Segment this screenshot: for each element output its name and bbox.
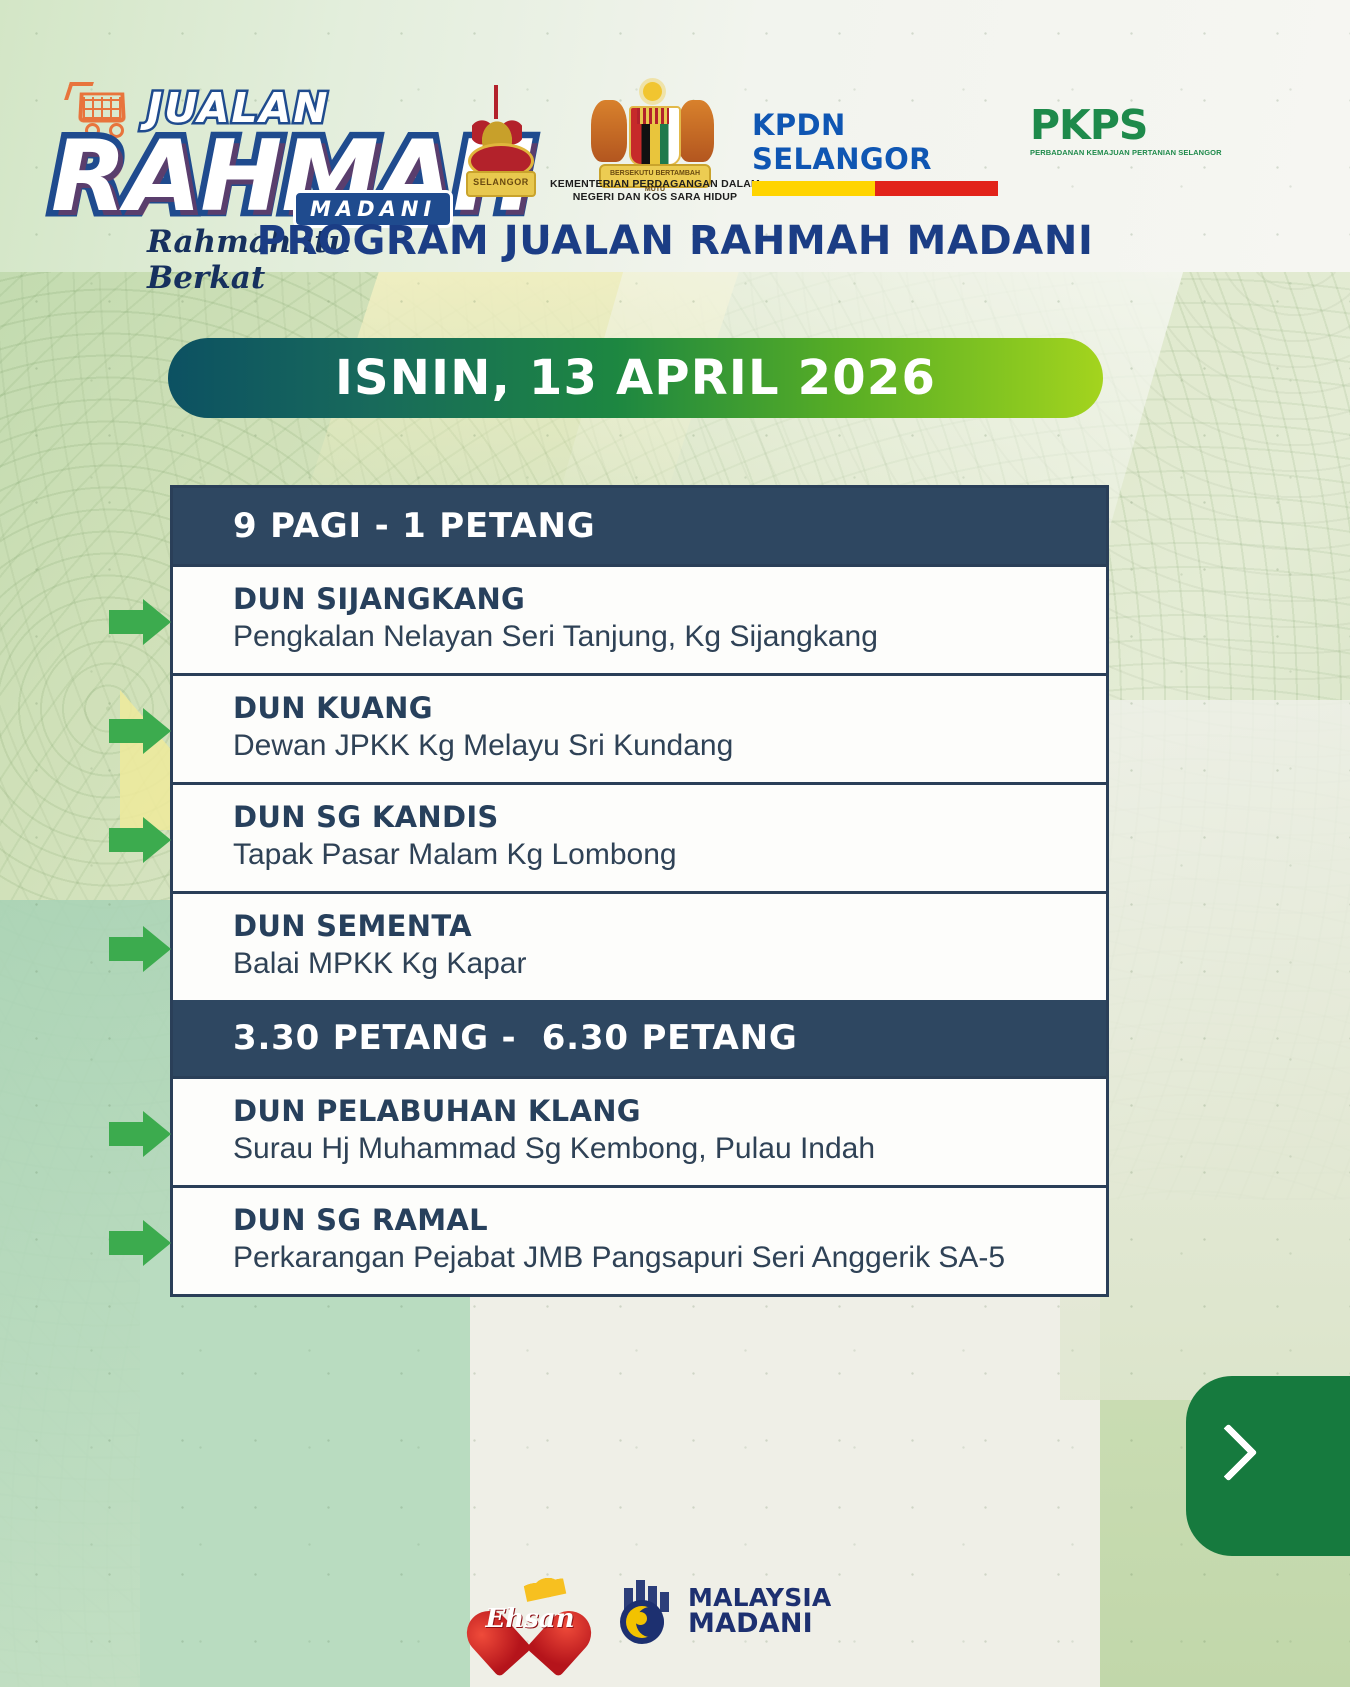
ministry-caption: KEMENTERIAN PERDAGANGAN DALAM NEGERI DAN… — [540, 178, 770, 204]
venue-name: Balai MPKK Kg Kapar — [233, 944, 1080, 984]
selangor-crest-icon: SELANGOR — [460, 85, 550, 205]
venue-name: Perkarangan Pejabat JMB Pangsapuri Seri … — [233, 1238, 1080, 1278]
dun-name: DUN SIJANGKANG — [233, 581, 1080, 617]
dun-name: DUN SG KANDIS — [233, 799, 1080, 835]
page-title: PROGRAM JUALAN RAHMAH MADANI — [0, 218, 1350, 264]
pkps-logo: PKPS PERBADANAN KEMAJUAN PERTANIAN SELAN… — [1030, 104, 1200, 157]
schedule-card: 9 PAGI - 1 PETANGDUN SIJANGKANGPengkalan… — [170, 485, 1109, 1297]
venue-name: Tapak Pasar Malam Kg Lombong — [233, 835, 1080, 875]
dun-name: DUN SEMENTA — [233, 908, 1080, 944]
malaysia-madani-logo: MALAYSIA MADANI — [614, 1574, 794, 1652]
schedule-row: DUN SEMENTABalai MPKK Kg Kapar — [173, 891, 1106, 1000]
next-slide-button[interactable] — [1186, 1376, 1350, 1556]
arrow-right-icon — [109, 1111, 171, 1157]
poster-root: JUALAN RAHMAH MADANI Rahmah itu Berkat S… — [0, 0, 1350, 1687]
header: JUALAN RAHMAH MADANI Rahmah itu Berkat S… — [0, 0, 1350, 272]
date-banner: ISNIN, 13 APRIL 2026 — [168, 338, 1103, 418]
date-banner-text: ISNIN, 13 APRIL 2026 — [335, 350, 936, 406]
session-time-header: 9 PAGI - 1 PETANG — [173, 488, 1106, 564]
arrow-right-icon — [109, 926, 171, 972]
session-time-header: 3.30 PETANG - 6.30 PETANG — [173, 1000, 1106, 1076]
dun-name: DUN SG RAMAL — [233, 1202, 1080, 1238]
kpdn-selangor-logo: KPDN SELANGOR — [752, 108, 1000, 196]
dun-name: DUN KUANG — [233, 690, 1080, 726]
madani-label: MADANI — [688, 1610, 813, 1637]
kpdn-selangor-label: KPDN SELANGOR — [752, 108, 1000, 176]
schedule-row: DUN KUANGDewan JPKK Kg Melayu Sri Kundan… — [173, 673, 1106, 782]
dun-name: DUN PELABUHAN KLANG — [233, 1093, 1080, 1129]
arrow-right-icon — [109, 1220, 171, 1266]
footer: Ehsan MALAYSIA MADANI — [0, 1560, 1350, 1687]
kpdn-selangor-colorbar — [752, 181, 998, 196]
venue-name: Surau Hj Muhammad Sg Kembong, Pulau Inda… — [233, 1129, 1080, 1169]
venue-name: Pengkalan Nelayan Seri Tanjung, Kg Sijan… — [233, 617, 1080, 657]
venue-name: Dewan JPKK Kg Melayu Sri Kundang — [233, 726, 1080, 766]
pkps-label: PKPS — [1030, 104, 1200, 146]
schedule-row: DUN PELABUHAN KLANGSurau Hj Muhammad Sg … — [173, 1076, 1106, 1185]
schedule-row: DUN SIJANGKANGPengkalan Nelayan Seri Tan… — [173, 564, 1106, 673]
ehsan-label: Ehsan — [482, 1604, 578, 1634]
arrow-right-icon — [109, 708, 171, 754]
selangor-crest-label: SELANGOR — [468, 173, 534, 191]
ehsan-logo: Ehsan — [482, 1570, 578, 1654]
schedule-row: DUN SG RAMALPerkarangan Pejabat JMB Pang… — [173, 1185, 1106, 1294]
arrow-right-icon — [109, 817, 171, 863]
malaysia-label: MALAYSIA — [688, 1584, 831, 1611]
schedule-row: DUN SG KANDISTapak Pasar Malam Kg Lombon… — [173, 782, 1106, 891]
chevron-right-icon — [1200, 1424, 1258, 1482]
arrow-right-icon — [109, 599, 171, 645]
pkps-subtitle: PERBADANAN KEMAJUAN PERTANIAN SELANGOR — [1030, 148, 1200, 157]
malaysia-madani-emblem-icon — [614, 1578, 680, 1644]
